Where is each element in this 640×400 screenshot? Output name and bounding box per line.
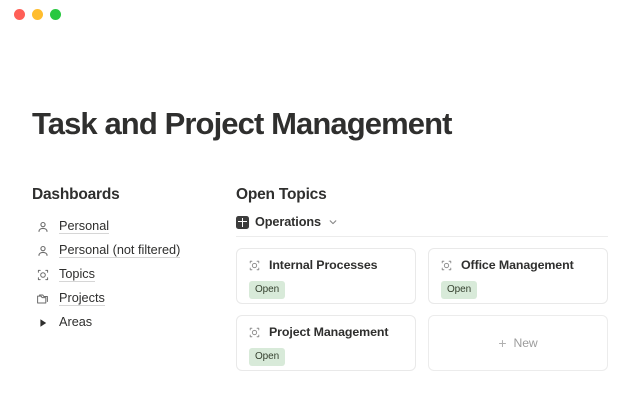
card-header: Project Management [248, 326, 404, 339]
status-badge: Open [249, 281, 285, 299]
topic-card-grid: Internal Processes Open Office Managemen… [236, 248, 608, 371]
target-icon [248, 326, 261, 339]
card-header: Office Management [440, 259, 596, 272]
card-header: Internal Processes [248, 259, 404, 272]
dashboards-list: Personal Personal (not filtered) [32, 215, 236, 335]
plus-icon: + [498, 336, 506, 350]
sidebar-item-personal[interactable]: Personal [32, 215, 236, 239]
view-tab-row: Operations [236, 215, 608, 237]
content-columns: Dashboards Personal [32, 186, 608, 371]
tab-operations[interactable]: Operations [236, 215, 338, 229]
sidebar-item-label: Topics [59, 268, 95, 283]
topic-card-internal-processes[interactable]: Internal Processes Open [236, 248, 416, 304]
card-title: Office Management [461, 259, 574, 271]
target-icon [248, 259, 261, 272]
target-icon [440, 259, 453, 272]
dashboards-heading: Dashboards [32, 186, 236, 204]
card-title: Project Management [269, 326, 388, 338]
close-window-button[interactable] [14, 9, 25, 20]
dashboards-section: Dashboards Personal [32, 186, 236, 335]
minimize-window-button[interactable] [32, 9, 43, 20]
traffic-lights [14, 9, 61, 20]
sidebar-item-label: Projects [59, 292, 105, 307]
sidebar-item-projects[interactable]: Projects [32, 287, 236, 311]
open-topics-section: Open Topics Operations [236, 186, 608, 371]
chevron-down-icon[interactable] [328, 217, 338, 227]
target-icon [35, 268, 50, 283]
folder-icon [35, 292, 50, 307]
maximize-window-button[interactable] [50, 9, 61, 20]
sidebar-item-topics[interactable]: Topics [32, 263, 236, 287]
new-topic-label: New [514, 336, 538, 350]
open-topics-heading: Open Topics [236, 186, 608, 204]
table-grid-icon [236, 216, 249, 229]
sidebar-item-areas[interactable]: Areas [32, 311, 236, 335]
sidebar-item-label: Areas [59, 316, 92, 330]
window-titlebar [0, 0, 640, 28]
page-body: Task and Project Management Dashboards P… [0, 28, 640, 371]
status-badge: Open [249, 348, 285, 366]
card-title: Internal Processes [269, 259, 377, 271]
person-icon [35, 220, 50, 235]
sidebar-item-label: Personal (not filtered) [59, 244, 180, 259]
sidebar-item-personal-not-filtered[interactable]: Personal (not filtered) [32, 239, 236, 263]
new-topic-button[interactable]: + New [428, 315, 608, 371]
status-badge: Open [441, 281, 477, 299]
page-title: Task and Project Management [32, 28, 608, 141]
person-icon [35, 244, 50, 259]
triangle-right-icon[interactable] [35, 316, 50, 331]
topic-card-project-management[interactable]: Project Management Open [236, 315, 416, 371]
topic-card-office-management[interactable]: Office Management Open [428, 248, 608, 304]
sidebar-item-label: Personal [59, 220, 109, 235]
tab-operations-label: Operations [255, 215, 321, 229]
